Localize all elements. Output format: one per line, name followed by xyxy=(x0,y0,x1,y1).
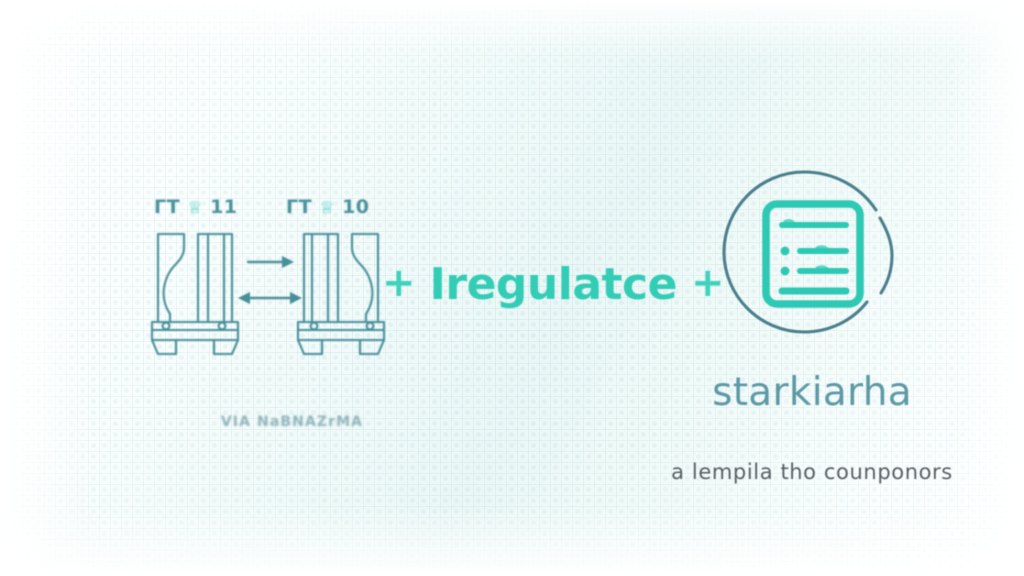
document-bullets xyxy=(781,247,790,276)
crown-icon-right: ♕ xyxy=(319,198,335,218)
crown-icon-left: ♕ xyxy=(187,198,203,218)
dimension-label-right: ΓΤ ♕ 10 xyxy=(286,196,370,218)
dimension-label-left: ΓΤ ♕ 11 xyxy=(154,196,238,218)
document-lines xyxy=(782,225,846,291)
arrow-double-headed xyxy=(238,292,302,304)
right-part-group xyxy=(298,234,384,354)
dimension-prefix-right: ΓΤ xyxy=(286,196,312,218)
brand-tagline: a lempila tho counponors xyxy=(600,460,1024,484)
arrow-single-right xyxy=(248,256,294,268)
center-word: Iregulatce xyxy=(430,263,677,307)
diagram-caption: VIA NaBNAZrMA xyxy=(182,414,402,430)
dimension-value-left: 11 xyxy=(210,196,237,218)
document-checklist-icon xyxy=(766,204,860,304)
diagram-linework xyxy=(136,222,400,362)
dimension-prefix-left: ΓΤ xyxy=(154,196,180,218)
slide-canvas: ΓΤ ♕ 11 ΓΤ ♕ 10 xyxy=(0,0,1024,576)
plus-icon-left: + xyxy=(382,263,416,303)
technical-diagram: ΓΤ ♕ 11 ΓΤ ♕ 10 xyxy=(136,196,400,446)
left-part-group xyxy=(152,234,238,354)
center-headline: + Iregulatce + xyxy=(382,256,725,314)
dimension-value-right: 10 xyxy=(342,196,369,218)
logo-artwork xyxy=(700,158,924,368)
brand-logo xyxy=(700,158,924,368)
brand-name: starkiarha xyxy=(660,373,964,412)
